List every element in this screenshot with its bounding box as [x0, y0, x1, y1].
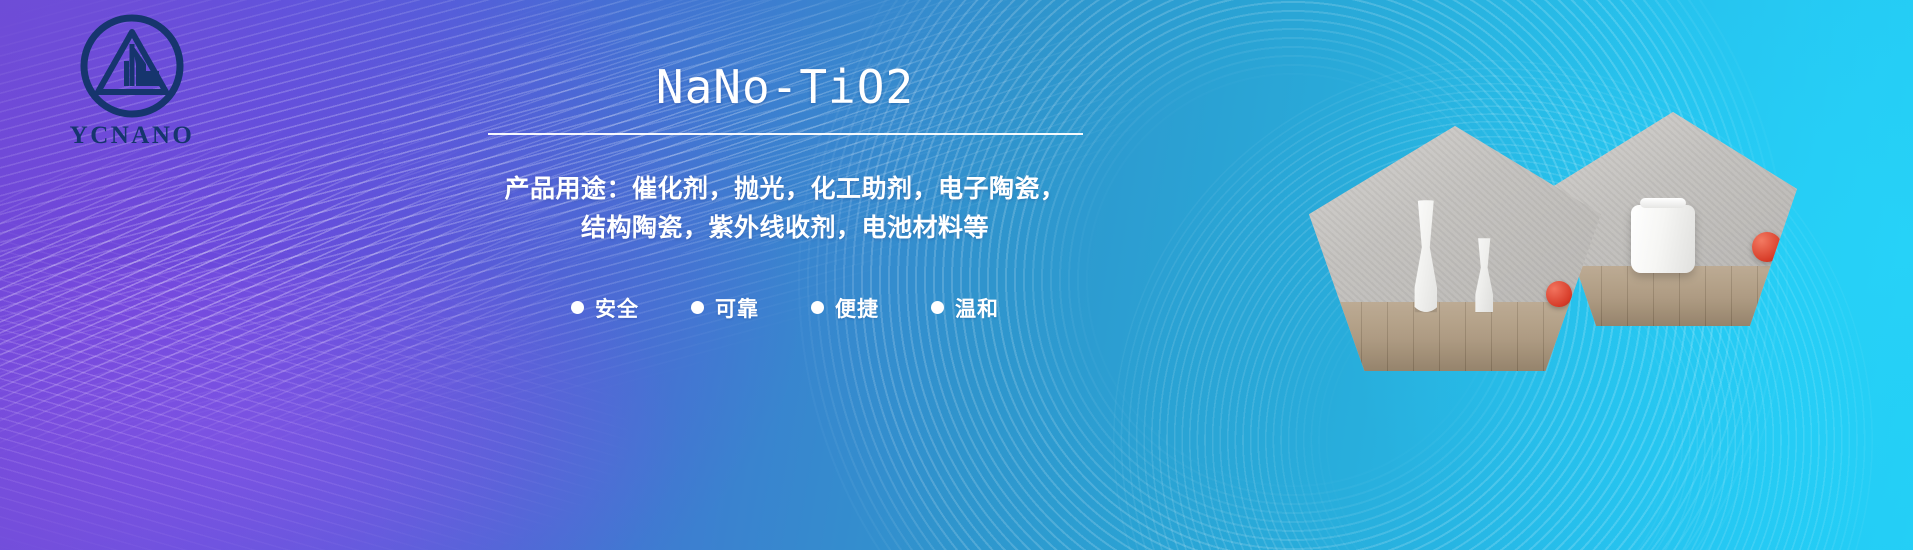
white-jar-object	[1631, 205, 1695, 273]
feature-item-safe: 安全	[571, 293, 639, 323]
pentagon-photo-white-vases	[1309, 126, 1601, 371]
feature-item-mild: 温和	[931, 293, 999, 323]
description-line-2: 结构陶瓷，紫外线收剂，电池材料等	[504, 208, 1065, 248]
page-title: NaNo-TiO2	[656, 62, 914, 113]
brand-wordmark: YCNANO	[70, 122, 195, 150]
feature-label: 便捷	[835, 293, 879, 323]
product-photo-group	[1301, 0, 1861, 550]
feature-list: 安全 可靠 便捷 温和	[571, 293, 999, 323]
red-fruit-object	[1546, 281, 1572, 307]
hero-content: NaNo-TiO2 产品用途：催化剂，抛光，化工助剂，电子陶瓷， 结构陶瓷，紫外…	[455, 62, 1115, 323]
photo-backdrop	[1309, 126, 1601, 302]
bullet-dot-icon	[811, 301, 824, 314]
photo-table-surface	[1549, 266, 1797, 326]
photo-table-surface	[1309, 302, 1601, 371]
feature-item-convenient: 便捷	[811, 293, 879, 323]
brand-logo: YCNANO	[47, 14, 217, 150]
product-banner: YCNANO NaNo-TiO2 产品用途：催化剂，抛光，化工助剂，电子陶瓷， …	[0, 0, 1913, 550]
description-line-1: 产品用途：催化剂，抛光，化工助剂，电子陶瓷，	[504, 169, 1065, 209]
feature-label: 温和	[955, 293, 999, 323]
bullet-dot-icon	[931, 301, 944, 314]
red-fruit-object	[1752, 232, 1782, 262]
title-divider	[488, 133, 1083, 135]
ycnano-triangle-logo-icon	[80, 14, 184, 118]
feature-label: 可靠	[715, 293, 759, 323]
feature-label: 安全	[595, 293, 639, 323]
feature-item-reliable: 可靠	[691, 293, 759, 323]
bullet-dot-icon	[691, 301, 704, 314]
product-description: 产品用途：催化剂，抛光，化工助剂，电子陶瓷， 结构陶瓷，紫外线收剂，电池材料等	[504, 169, 1065, 248]
bullet-dot-icon	[571, 301, 584, 314]
